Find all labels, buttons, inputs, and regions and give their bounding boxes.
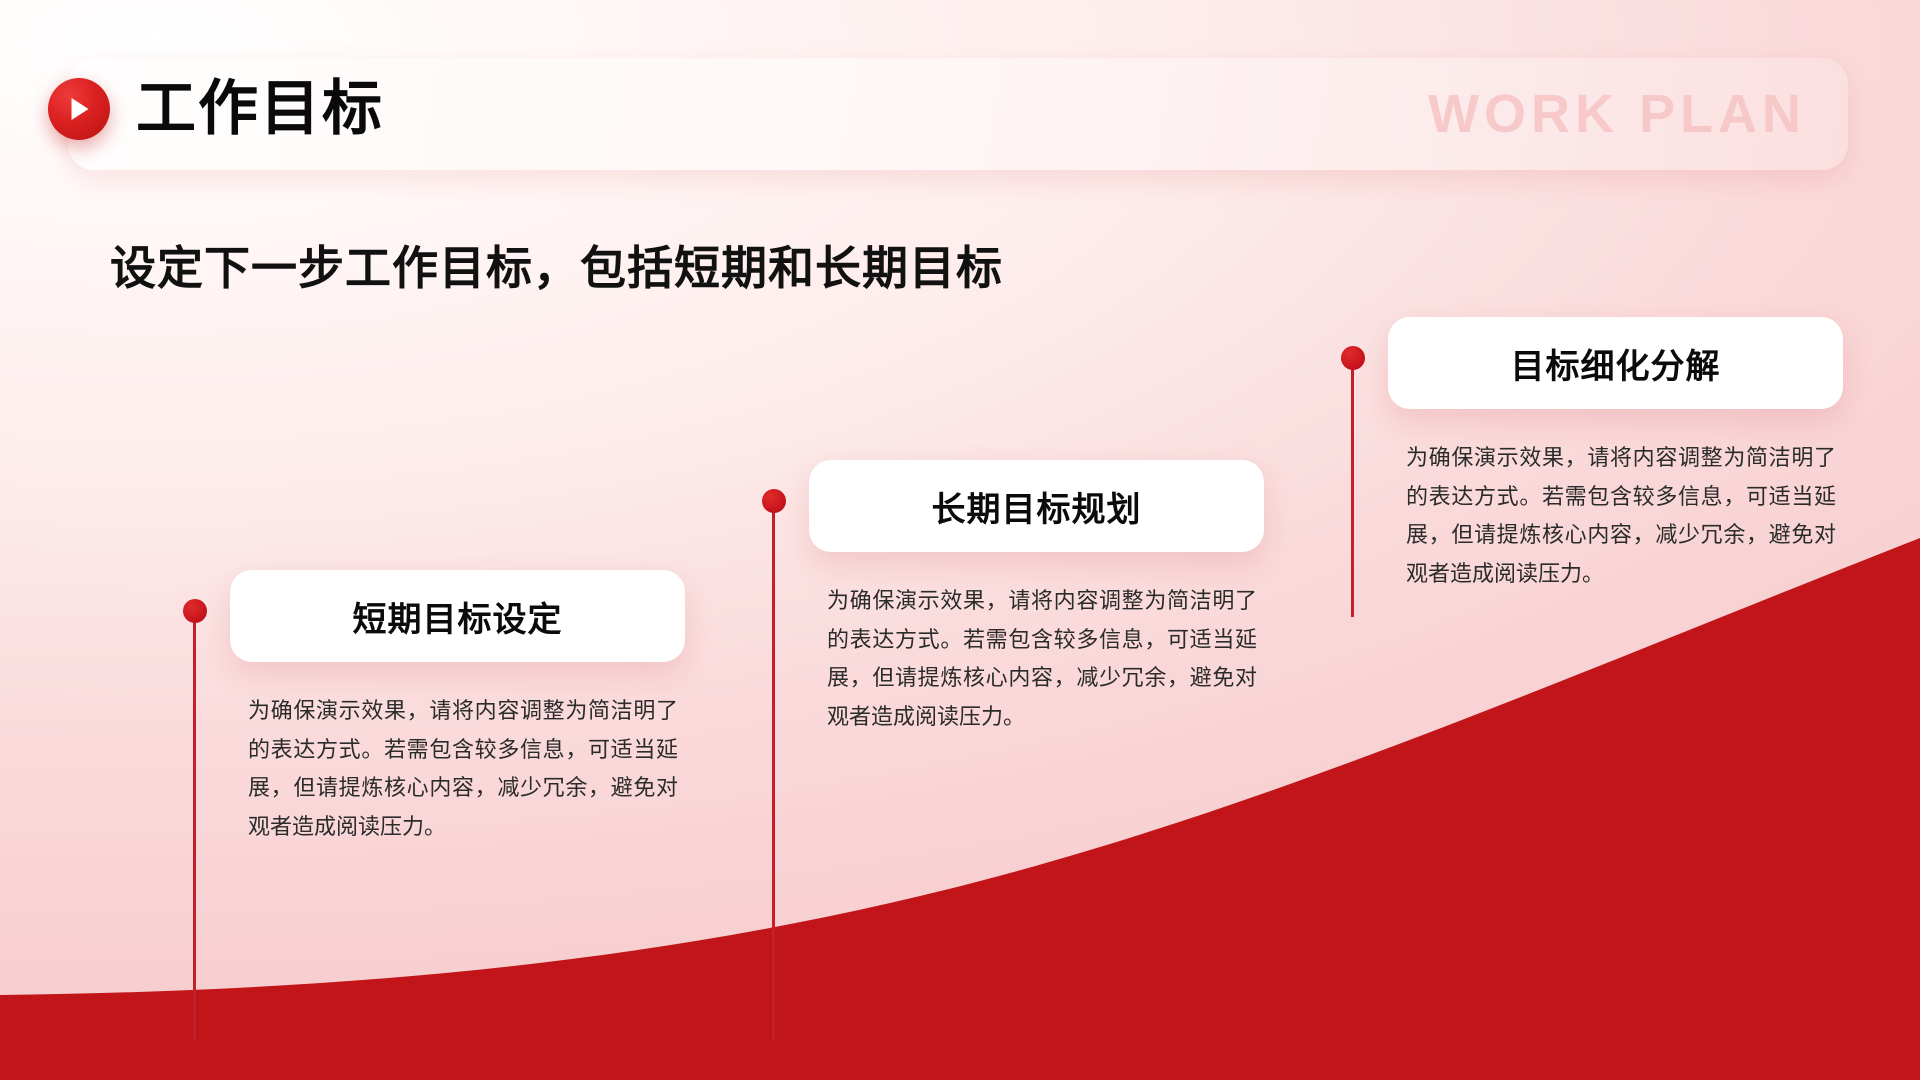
play-icon [48,78,110,140]
timeline-stem [193,610,196,1040]
goal-card[interactable]: 长期目标规划 [809,460,1264,552]
timeline-dot-icon [762,489,786,513]
timeline-stem [772,500,775,1040]
timeline-dot-icon [1341,346,1365,370]
page-subtitle: 设定下一步工作目标，包括短期和长期目标 [110,232,1003,298]
page-title: 工作目标 [136,79,384,139]
goal-card-body: 为确保演示效果，请将内容调整为简洁明了的表达方式。若需包含较多信息，可适当延展，… [1406,439,1836,593]
goal-card[interactable]: 短期目标设定 [230,570,685,662]
goal-card[interactable]: 目标细化分解 [1388,317,1843,409]
timeline-dot-icon [183,599,207,623]
goal-card-title: 长期目标规划 [932,482,1142,531]
goal-card-body: 为确保演示效果，请将内容调整为简洁明了的表达方式。若需包含较多信息，可适当延展，… [248,692,678,846]
goal-card-title: 短期目标设定 [353,592,563,641]
header-watermark-text: WORK PLAN [1428,83,1806,145]
slide-canvas: WORK PLAN 工作目标 设定下一步工作目标，包括短期和长期目标 短期目标设… [0,0,1920,1080]
goal-card-title: 目标细化分解 [1511,339,1721,388]
header-title-row: 工作目标 [48,78,384,140]
timeline-stem [1351,357,1354,617]
goal-card-body: 为确保演示效果，请将内容调整为简洁明了的表达方式。若需包含较多信息，可适当延展，… [827,582,1257,736]
